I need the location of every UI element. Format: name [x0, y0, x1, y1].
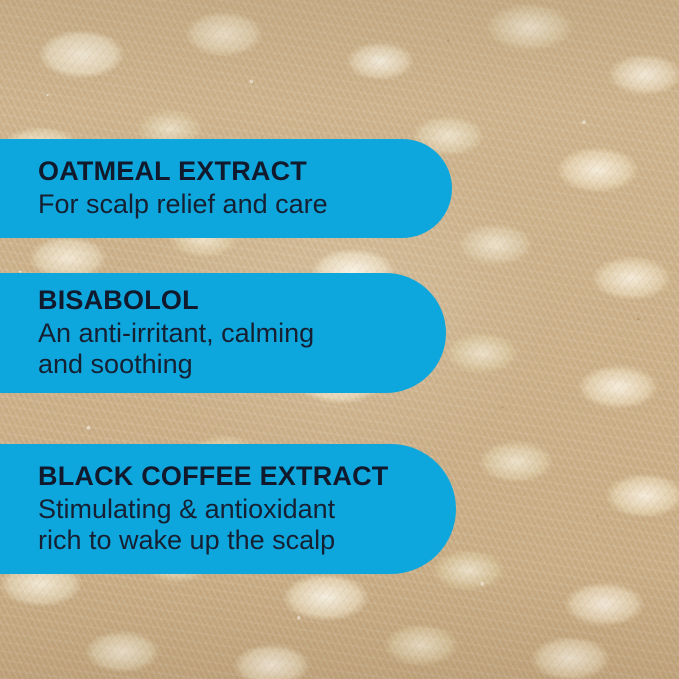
ingredient-description-line: rich to wake up the scalp: [38, 525, 456, 556]
ingredient-banner-bisabolol: BISABOLOL An anti-irritant, calming and …: [0, 273, 446, 393]
ingredient-description-line: Stimulating & antioxidant: [38, 494, 456, 525]
ingredient-heading: BLACK COFFEE EXTRACT: [38, 462, 456, 491]
ingredient-description-line: and soothing: [38, 349, 446, 380]
ingredient-description-line: An anti-irritant, calming: [38, 318, 446, 349]
ingredient-banner-oatmeal-extract: OATMEAL EXTRACT For scalp relief and car…: [0, 139, 452, 238]
ingredient-banner-black-coffee-extract: BLACK COFFEE EXTRACT Stimulating & antio…: [0, 444, 456, 574]
ingredient-heading: OATMEAL EXTRACT: [38, 157, 452, 186]
ingredient-description-line: For scalp relief and care: [38, 189, 452, 220]
product-ingredient-infographic: OATMEAL EXTRACT For scalp relief and car…: [0, 0, 679, 679]
ingredient-heading: BISABOLOL: [38, 286, 446, 315]
